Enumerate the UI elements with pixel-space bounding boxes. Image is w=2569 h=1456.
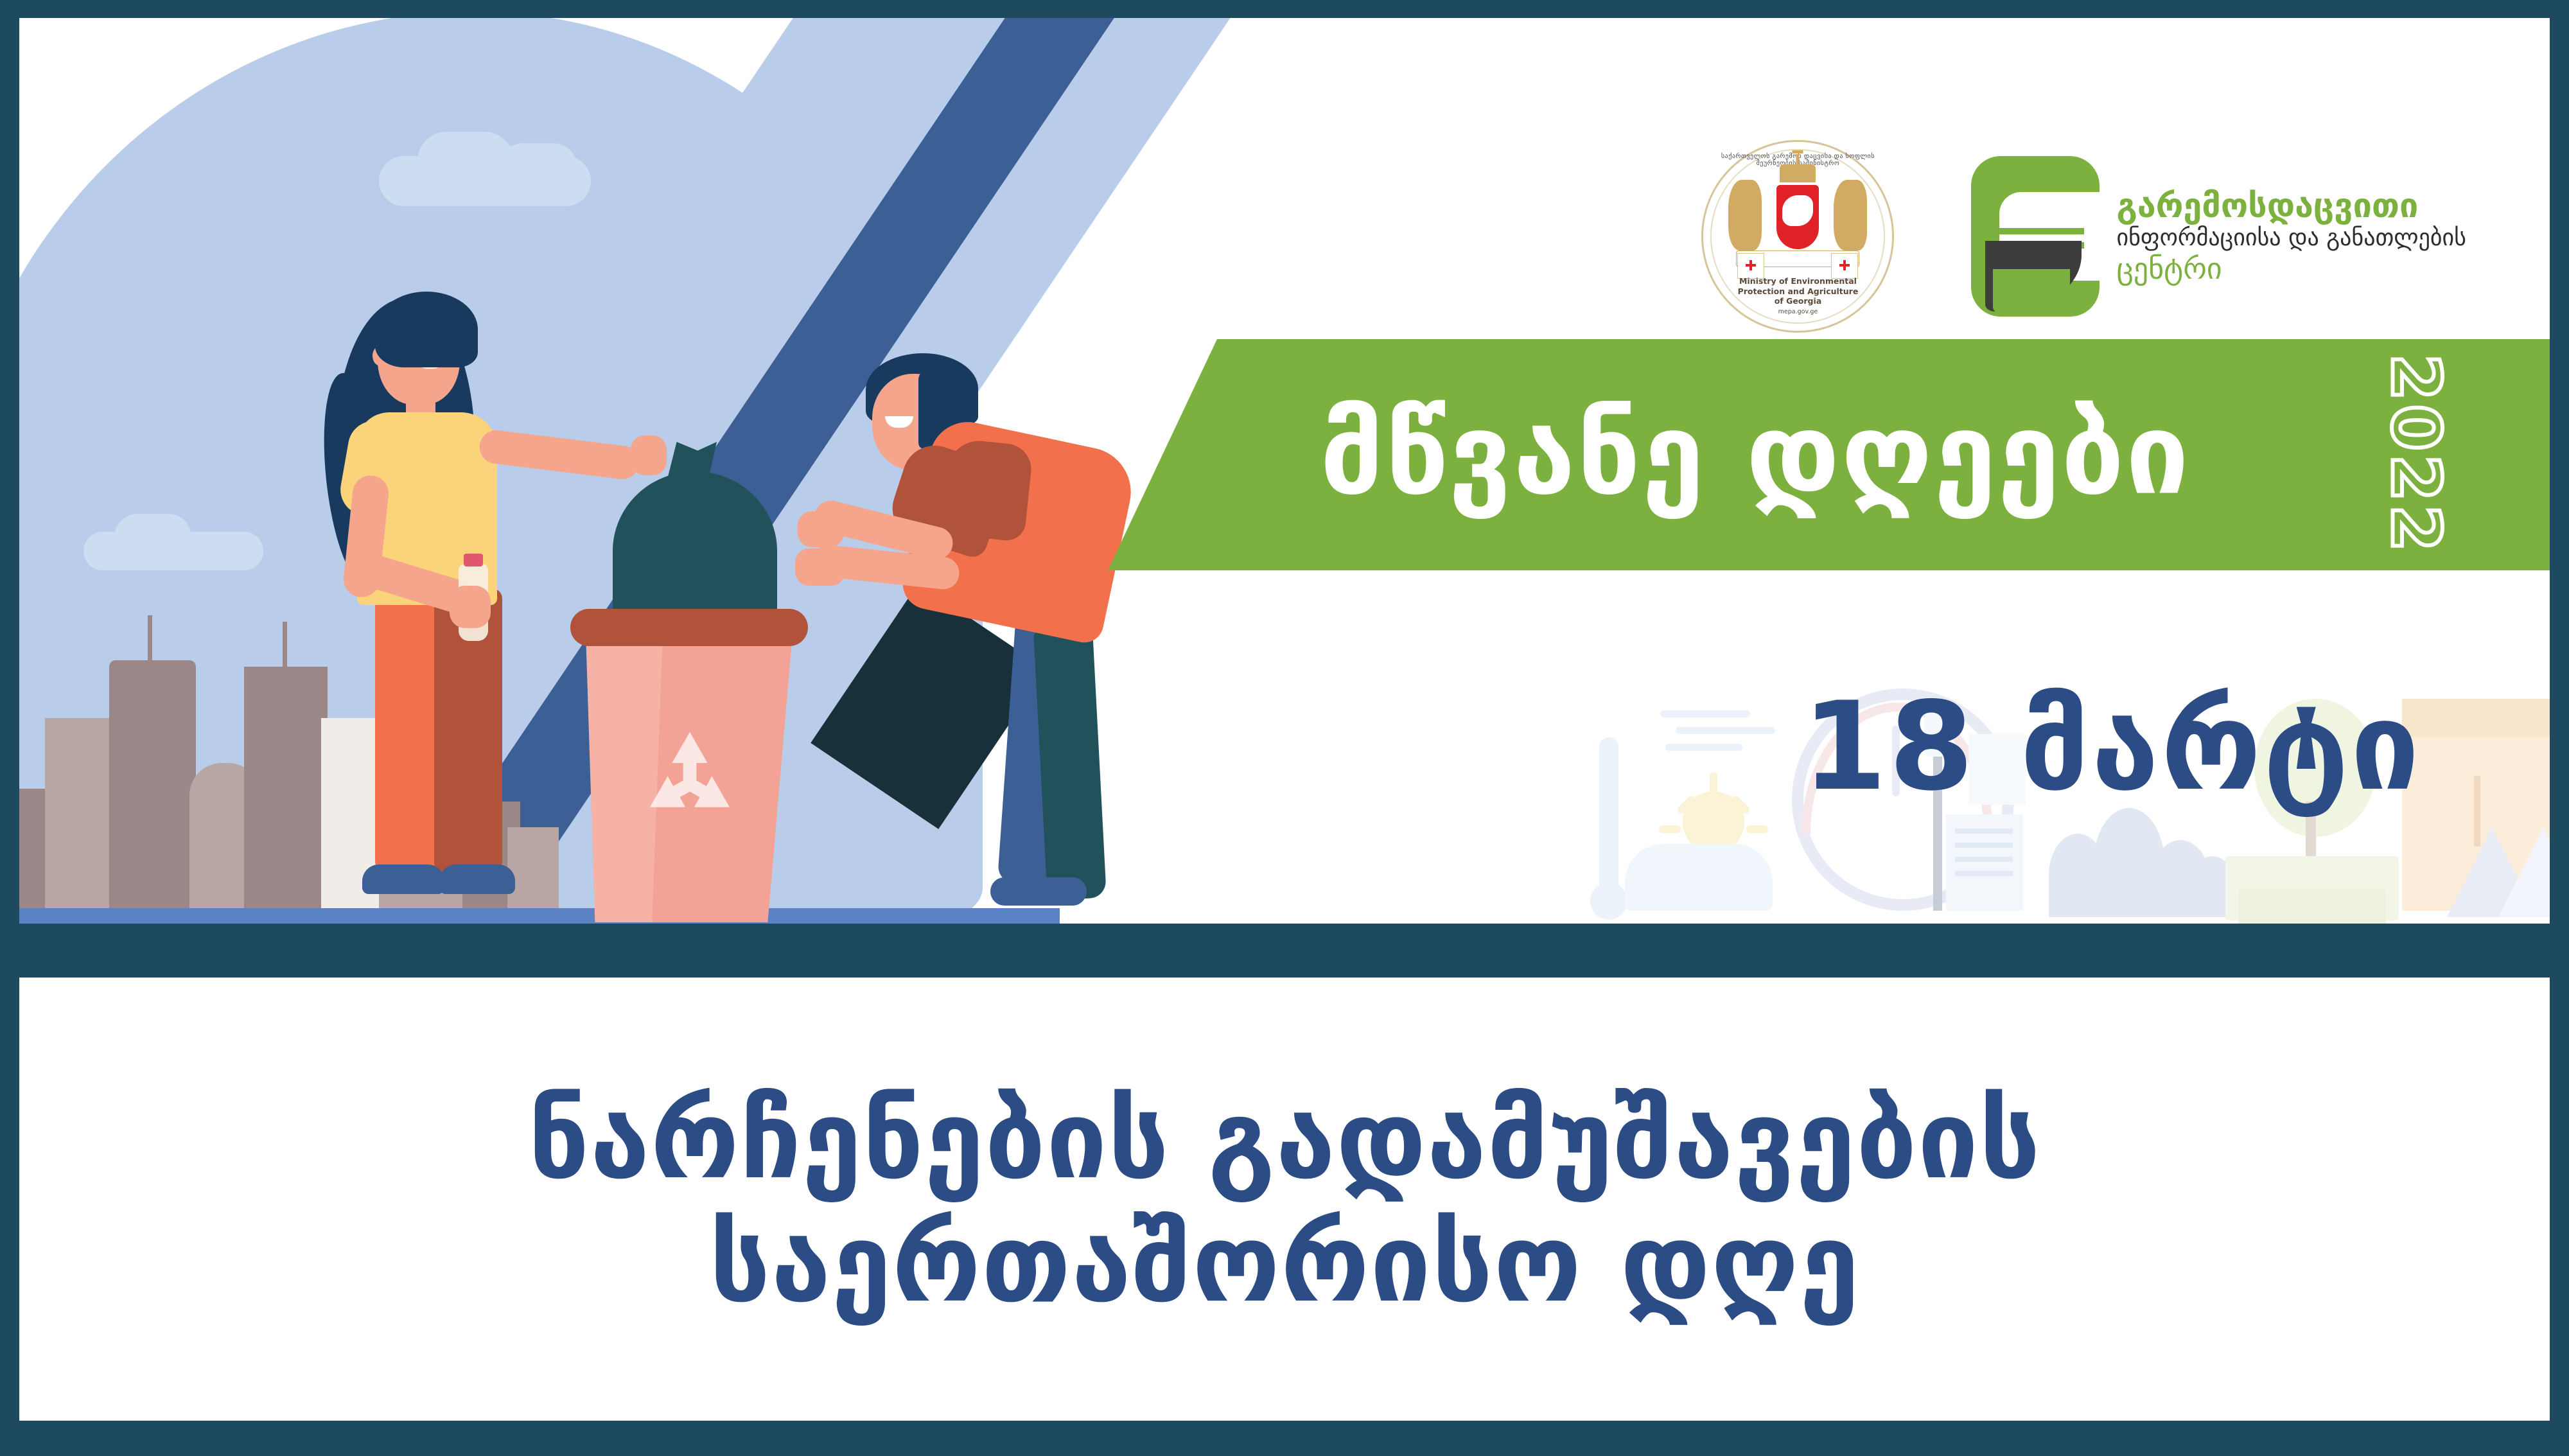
main-title-line-2: საერთაშორისო დღე: [709, 1202, 1860, 1326]
emblem-en-line2: Protection and Agriculture: [1701, 286, 1894, 297]
eiec-line-3: ცენტრი: [2116, 254, 2466, 283]
emblem-english-text: Ministry of Environmental Protection and…: [1701, 276, 1894, 306]
mountain-icon: [2447, 821, 2550, 917]
eiec-mark-icon: [1971, 156, 2100, 317]
ministry-emblem-logo: საქართველოს გარემოს დაცვისა და სოფლის მე…: [1701, 140, 1894, 333]
bush-icon: [2049, 802, 2241, 917]
planter-base-icon: [2238, 888, 2386, 924]
banner-year: 2022: [2376, 354, 2455, 555]
event-date: 18 მარტი: [1802, 686, 2421, 808]
section-divider: [19, 948, 2550, 978]
ground-dark-strip: [19, 924, 2550, 948]
wind-icon: [1660, 705, 1776, 763]
document-icon: [1946, 814, 2023, 911]
green-banner: მწვანე დღეები 2022: [1108, 339, 2550, 570]
woman-figure: [321, 276, 597, 918]
banner-title: მწვანე დღეები: [1320, 399, 2190, 511]
bottom-title-section: ნარჩენების გადამუშავების საერთაშორისო დღ…: [19, 978, 2550, 1421]
emblem-en-line3: of Georgia: [1701, 296, 1894, 306]
recycle-icon: [635, 723, 745, 834]
cloud-weather-icon: [1625, 844, 1773, 911]
poster-inner-canvas: საქართველოს გარემოს დაცვისა და სოფლის მე…: [19, 18, 2550, 1421]
eiec-logo: გარემოსდაცვითი ინფორმაციისა და განათლები…: [1971, 156, 2466, 317]
eiec-line-2: ინფორმაციისა და განათლების: [2116, 227, 2466, 250]
main-title-line-1: ნარჩენების გადამუშავების: [528, 1079, 2041, 1202]
top-illustration-section: საქართველოს გარემოს დაცვისა და სოფლის მე…: [19, 18, 2550, 948]
emblem-en-line1: Ministry of Environmental: [1701, 276, 1894, 286]
cloud-icon: [379, 156, 591, 206]
emblem-url: mepa.gov.ge: [1701, 308, 1894, 315]
garbage-bag: [613, 471, 777, 631]
eiec-line-1: გარემოსდაცვითი: [2116, 189, 2466, 223]
poster-root: საქართველოს გარემოს დაცვისა და სოფლის მე…: [0, 0, 2569, 1456]
man-figure: [764, 353, 1124, 918]
cloud-icon: [83, 532, 263, 570]
thermometer-icon: [1599, 737, 1618, 898]
logo-group: საქართველოს გარემოს დაცვისა და სოფლის მე…: [1701, 140, 2466, 333]
